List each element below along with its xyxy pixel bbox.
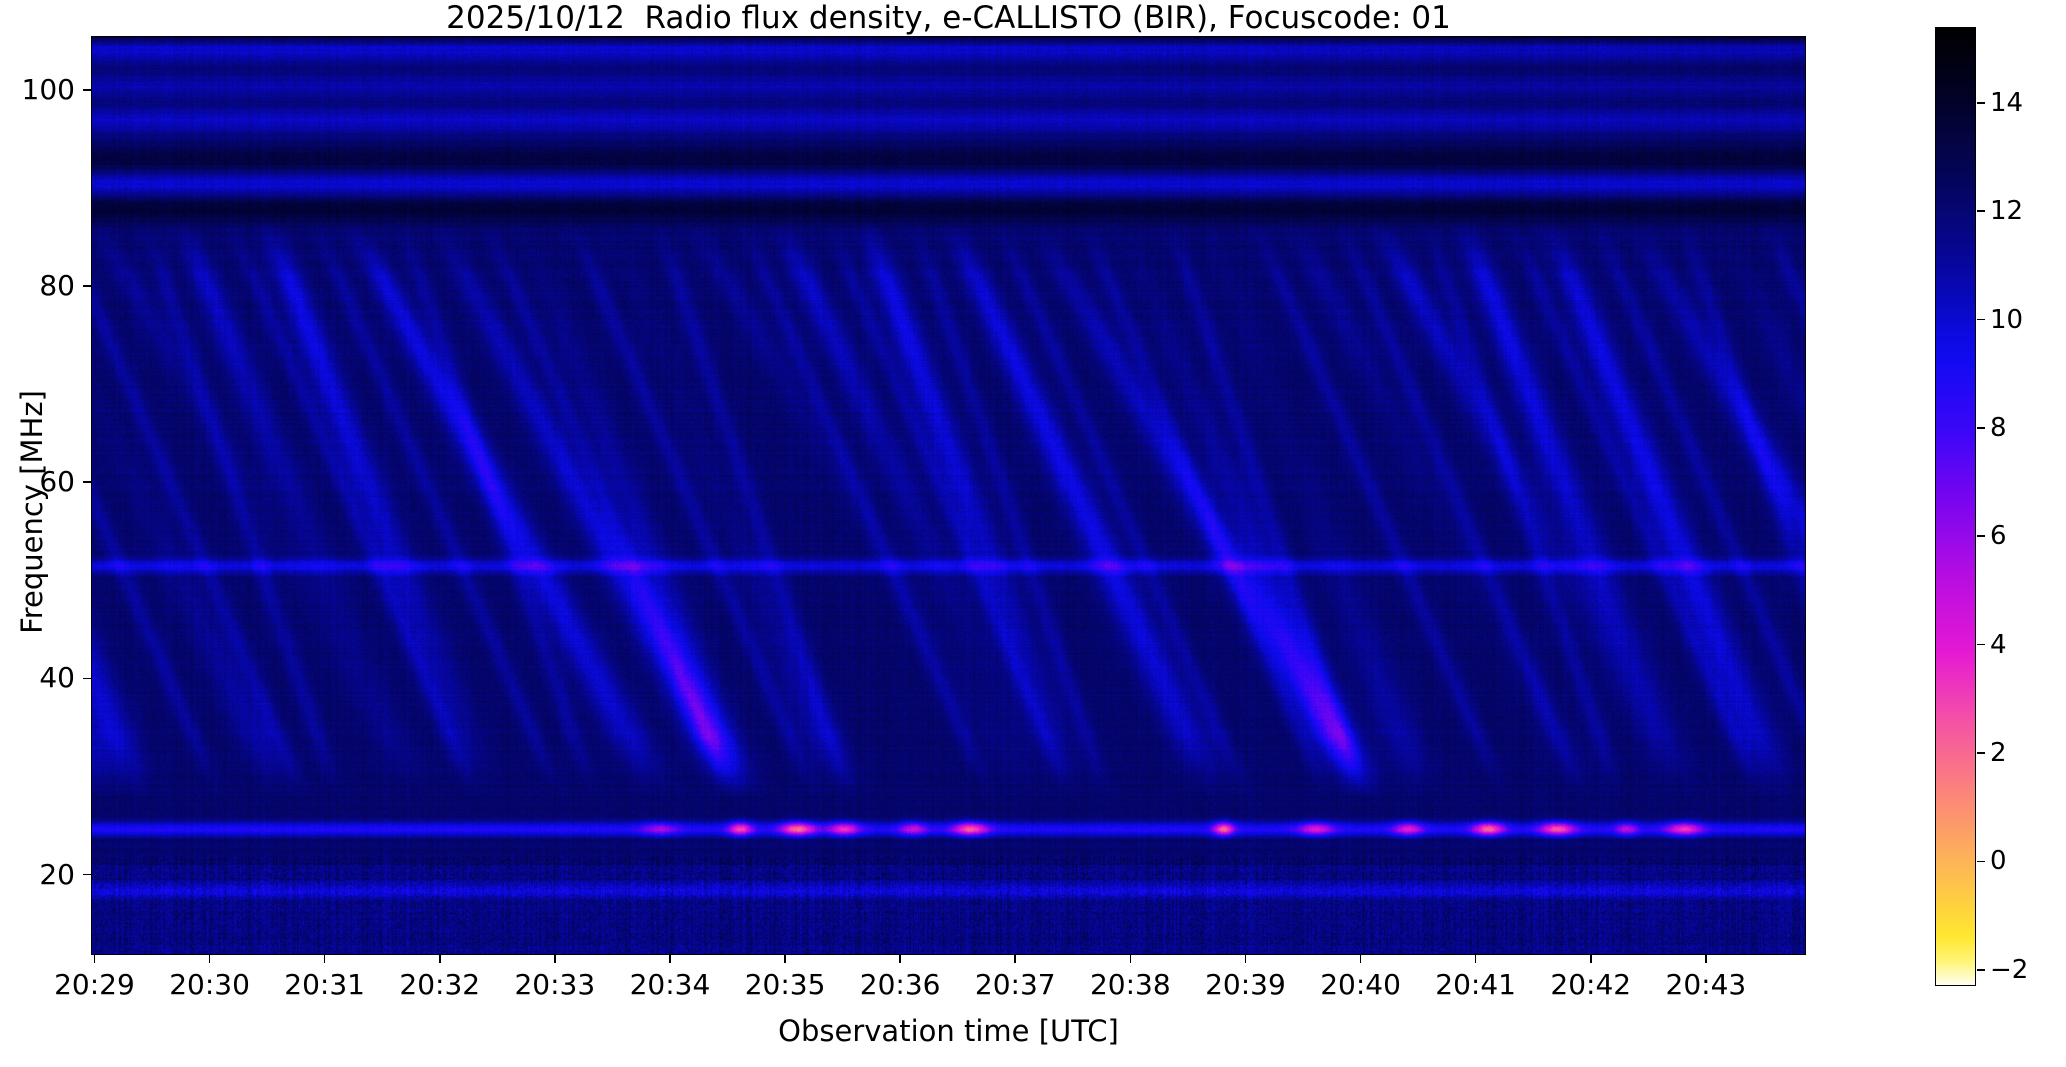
colorbar-tick-label: 8	[1990, 415, 2007, 441]
colorbar-tick-label: 10	[1990, 307, 2023, 333]
colorbar-tick-mark	[1977, 752, 1985, 754]
x-tick-mark	[669, 955, 671, 963]
x-tick-mark	[1475, 955, 1477, 963]
x-tick-mark	[94, 955, 96, 963]
colorbar-tick-label: 2	[1990, 740, 2007, 766]
y-tick-label: 100	[5, 76, 75, 104]
x-tick-mark	[1590, 955, 1592, 963]
x-tick-mark	[1130, 955, 1132, 963]
colorbar-tick-mark	[1977, 644, 1985, 646]
x-tick-mark	[899, 955, 901, 963]
colorbar-tick-label: 0	[1990, 848, 2007, 874]
y-tick-mark	[83, 678, 91, 680]
spectrogram-plot-area[interactable]	[91, 36, 1806, 955]
page-title: 2025/10/12 Radio flux density, e-CALLIST…	[91, 1, 1806, 35]
x-tick-mark	[784, 955, 786, 963]
x-tick-mark	[209, 955, 211, 963]
y-tick-mark	[83, 285, 91, 287]
x-tick-mark	[554, 955, 556, 963]
colorbar-tick-mark	[1977, 535, 1985, 537]
y-tick-mark	[83, 481, 91, 483]
y-tick-mark	[83, 89, 91, 91]
x-tick-mark	[1014, 955, 1016, 963]
spectrogram-figure: 2025/10/12 Radio flux density, e-CALLIST…	[0, 0, 2066, 1067]
colorbar-tick-mark	[1977, 969, 1985, 971]
spectrogram-image	[92, 37, 1806, 955]
y-tick-label: 20	[5, 861, 75, 889]
colorbar-tick-mark	[1977, 319, 1985, 321]
x-tick-mark	[439, 955, 441, 963]
colorbar-tick-label: 6	[1990, 523, 2007, 549]
x-axis-label: Observation time [UTC]	[91, 1014, 1806, 1048]
x-tick-mark	[1705, 955, 1707, 963]
y-axis-label: Frequency [MHz]	[15, 162, 49, 862]
colorbar-tick-mark	[1977, 861, 1985, 863]
y-tick-mark	[83, 874, 91, 876]
colorbar-tick-mark	[1977, 427, 1985, 429]
colorbar-tick-label: 4	[1990, 632, 2007, 658]
colorbar-tick-label: 12	[1990, 198, 2023, 224]
x-tick-mark	[1245, 955, 1247, 963]
colorbar-tick-mark	[1977, 210, 1985, 212]
x-tick-mark	[1360, 955, 1362, 963]
x-tick-mark	[324, 955, 326, 963]
x-tick-label: 20:43	[1636, 971, 1776, 999]
colorbar[interactable]	[1935, 27, 1976, 986]
colorbar-gradient	[1936, 28, 1975, 985]
colorbar-tick-mark	[1977, 102, 1985, 104]
colorbar-tick-label: −2	[1990, 957, 2028, 983]
colorbar-tick-label: 14	[1990, 90, 2023, 116]
